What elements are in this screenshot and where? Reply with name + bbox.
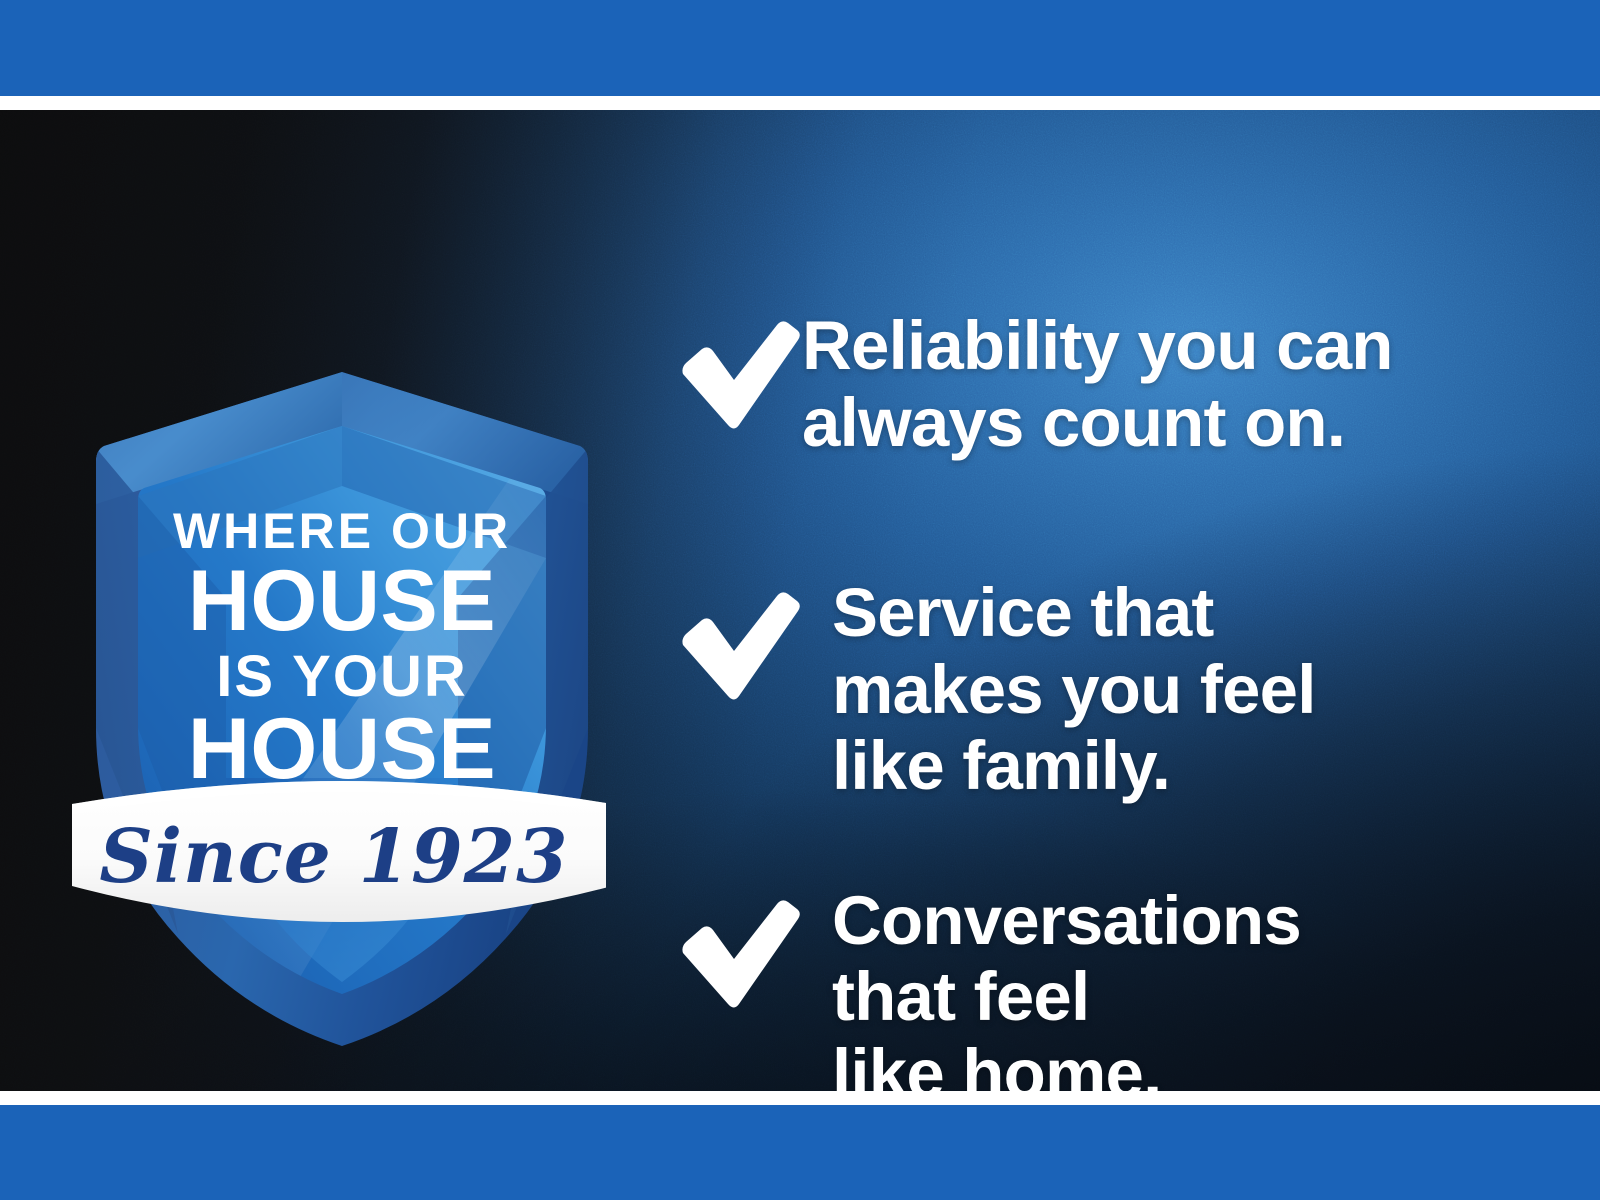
list-item: Reliability you can always count on. xyxy=(676,306,1556,461)
benefit-list: Reliability you can always count on. Ser… xyxy=(676,306,1556,1091)
brand-bar-top xyxy=(0,0,1600,96)
checkmark-icon xyxy=(676,897,802,1013)
ribbon-since-text: Since 1923 xyxy=(99,814,568,900)
checkmark-icon xyxy=(676,318,802,434)
shield-badge: WHERE OUR HOUSE IS YOUR HOUSE Since 1923 xyxy=(66,258,606,1058)
shield-wordmark: WHERE OUR HOUSE IS YOUR HOUSE xyxy=(173,503,511,797)
brand-bar-bottom xyxy=(0,1105,1600,1200)
shield-line-3: IS YOUR xyxy=(216,644,467,709)
brand-bar-bottom-divider xyxy=(0,1091,1600,1105)
list-item: Service that makes you feel like family. xyxy=(676,573,1556,805)
list-item: Conversations that feel like home. xyxy=(676,881,1556,1091)
list-item-label: Conversations that feel like home. xyxy=(802,881,1556,1091)
list-item-label: Service that makes you feel like family. xyxy=(802,573,1556,805)
shield-ribbon: Since 1923 xyxy=(72,781,606,922)
brand-bar-top-divider xyxy=(0,96,1600,110)
hero-background: WHERE OUR HOUSE IS YOUR HOUSE Since 1923 xyxy=(0,110,1600,1091)
list-item-label: Reliability you can always count on. xyxy=(802,306,1556,461)
checkmark-icon xyxy=(676,589,802,705)
poster-canvas: WHERE OUR HOUSE IS YOUR HOUSE Since 1923 xyxy=(0,0,1600,1200)
shield-line-2: HOUSE xyxy=(188,553,496,649)
shield-line-1: WHERE OUR xyxy=(173,503,511,559)
